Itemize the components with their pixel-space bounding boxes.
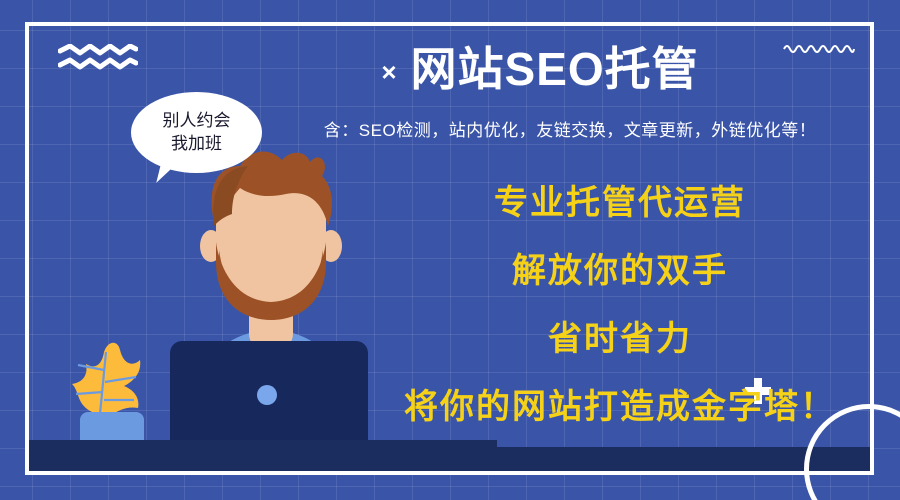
- seo-hosting-banner: 别人约会 我加班 × 网站SEO托管 含：SEO检测，站内优化，友链交换，文章更…: [0, 0, 900, 500]
- speech-bubble-line-2: 我加班: [171, 133, 222, 155]
- slogan-item: 解放你的双手: [380, 254, 860, 288]
- slogan-list: 专业托管代运营 解放你的双手 省时省力 将你的网站打造成金字塔！: [380, 186, 860, 424]
- speech-bubble-line-1: 别人约会: [163, 110, 231, 132]
- cross-icon: ×: [381, 59, 396, 85]
- slogan-item: 专业托管代运营: [380, 186, 860, 220]
- page-title: 网站SEO托管: [411, 44, 699, 95]
- slogan-item: 将你的网站打造成金字塔！: [380, 390, 860, 424]
- subtitle: 含：SEO检测，站内优化，友链交换，文章更新，外链优化等！: [250, 116, 890, 141]
- headline: × 网站SEO托管: [330, 44, 750, 95]
- speech-bubble: 别人约会 我加班: [131, 92, 262, 173]
- slogan-item: 省时省力: [380, 322, 860, 356]
- laptop-logo-icon: [257, 385, 277, 405]
- desk-surface: [29, 447, 870, 471]
